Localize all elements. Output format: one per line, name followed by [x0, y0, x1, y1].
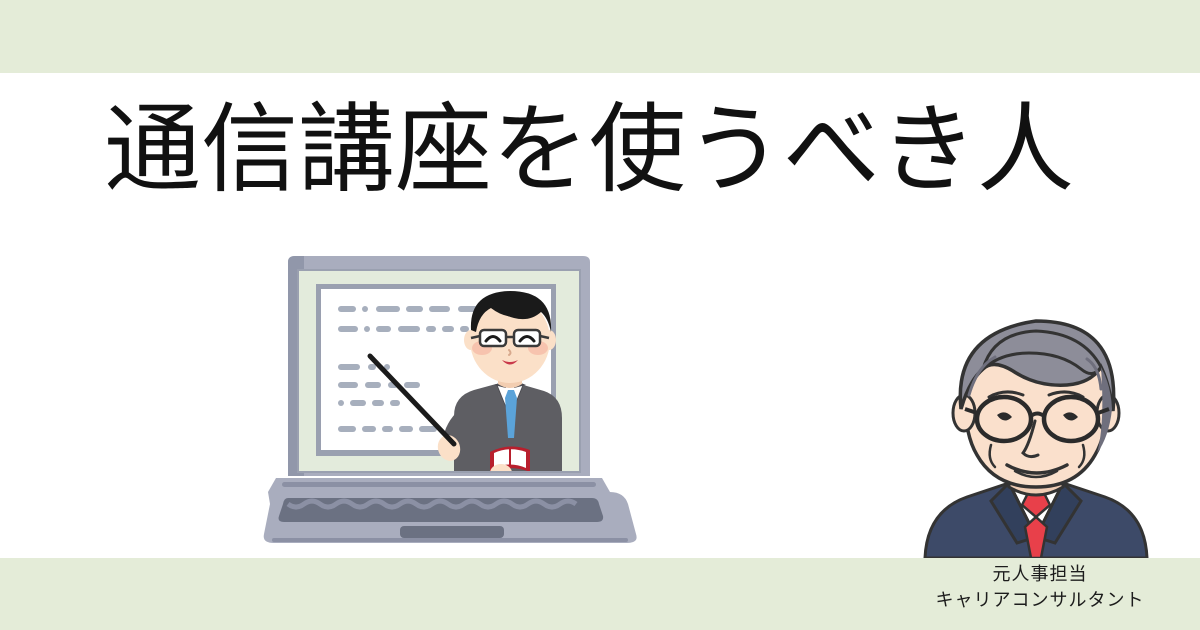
page-title: 通信講座を使うべき人 — [104, 95, 1104, 205]
consultant-caption: 元人事担当 キャリアコンサルタント — [900, 562, 1180, 614]
slide-canvas: 通信講座を使うべき人 — [0, 0, 1200, 630]
consultant-avatar-illustration — [905, 305, 1167, 558]
caption-role: 元人事担当 — [900, 562, 1180, 588]
top-accent-band — [0, 0, 1200, 73]
caption-title: キャリアコンサルタント — [900, 588, 1180, 614]
laptop-online-lecture-illustration — [258, 248, 658, 558]
